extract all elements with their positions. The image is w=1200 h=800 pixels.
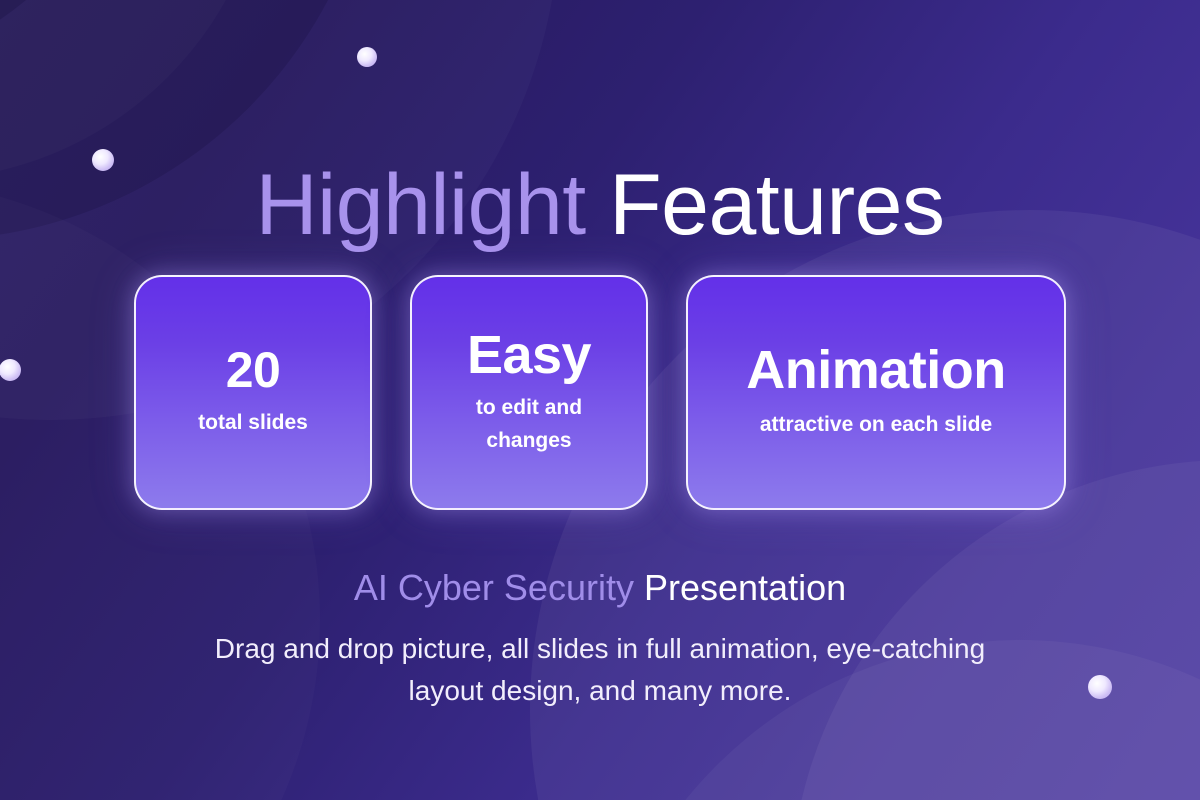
page-title: Highlight Features: [0, 162, 1200, 248]
footer-title-space: [634, 567, 644, 608]
feature-card-subtitle-line: to edit and: [476, 392, 582, 425]
footer-block: AI Cyber Security Presentation Drag and …: [0, 565, 1200, 712]
footer-description-line: layout design, and many more.: [0, 670, 1200, 712]
feature-cards-row: 20 total slides Easy to edit and changes…: [134, 275, 1066, 510]
feature-card-subtitle-line: total slides: [198, 407, 308, 440]
feature-card-subtitle-line: changes: [476, 425, 582, 458]
feature-card-title: Easy: [467, 328, 591, 382]
feature-card-subtitle: total slides: [198, 407, 308, 440]
feature-card-total-slides[interactable]: 20 total slides: [134, 275, 372, 510]
slide-canvas: Highlight Features 20 total slides Easy …: [0, 0, 1200, 800]
footer-description: Drag and drop picture, all slides in ful…: [0, 628, 1200, 712]
footer-title-white: Presentation: [644, 567, 846, 608]
footer-title-accent: AI Cyber Security: [354, 567, 634, 608]
feature-card-subtitle: to edit and changes: [476, 392, 582, 457]
feature-card-subtitle-line: attractive on each slide: [760, 409, 992, 442]
feature-card-animation[interactable]: Animation attractive on each slide: [686, 275, 1066, 510]
feature-card-title: 20: [226, 345, 281, 395]
page-title-space: [586, 157, 609, 253]
feature-card-easy-to-edit[interactable]: Easy to edit and changes: [410, 275, 648, 510]
footer-description-line: Drag and drop picture, all slides in ful…: [0, 628, 1200, 670]
page-title-accent: Highlight: [256, 157, 586, 253]
feature-card-title: Animation: [746, 343, 1006, 397]
feature-card-subtitle: attractive on each slide: [760, 409, 992, 442]
page-title-white: Features: [609, 157, 944, 253]
footer-title: AI Cyber Security Presentation: [0, 565, 1200, 610]
